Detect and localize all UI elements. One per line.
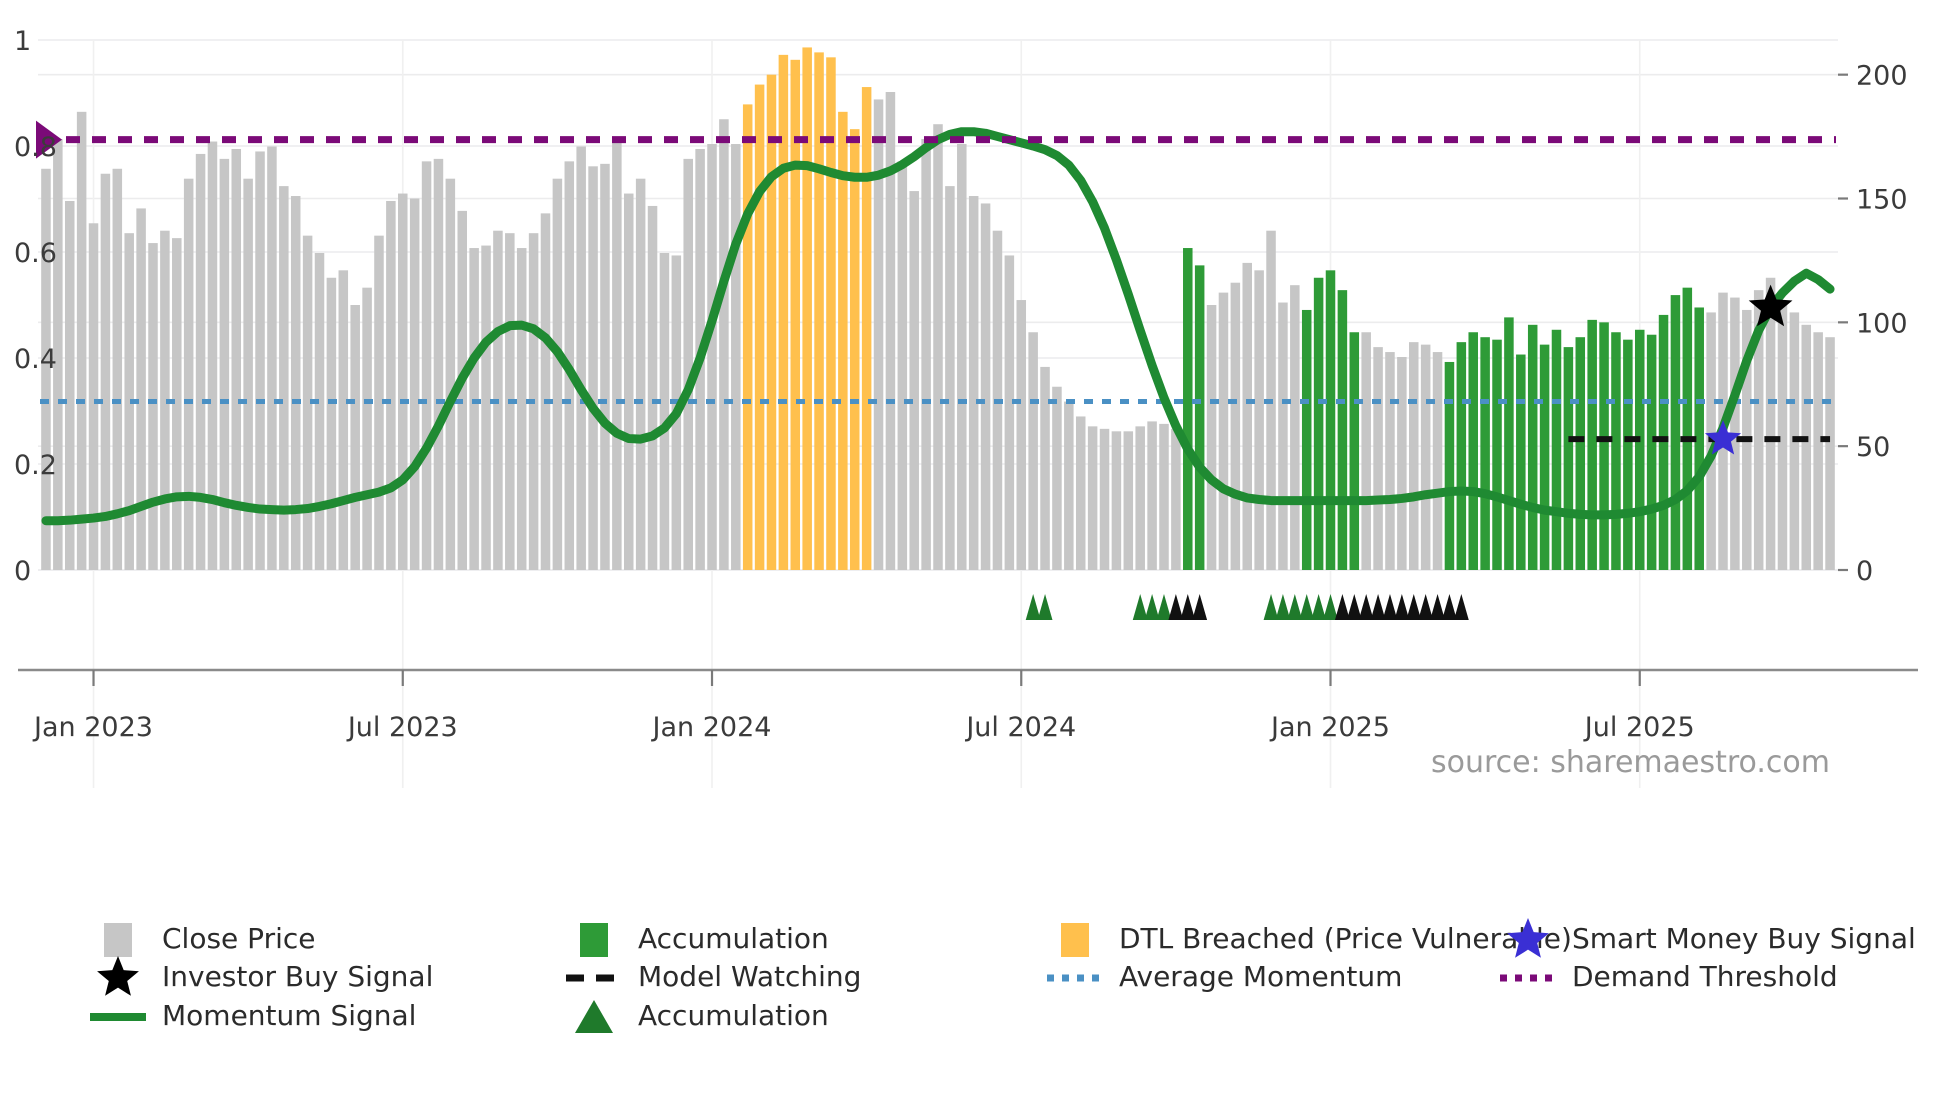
accumulation-triangle-green — [1275, 594, 1290, 620]
bar-accumulation — [1683, 288, 1693, 570]
bar-accumulation — [1302, 310, 1312, 570]
legend-item-label: Model Watching — [638, 960, 861, 993]
bar-close-price — [1278, 303, 1288, 570]
legend-close-price[interactable]: Close Price — [104, 922, 315, 957]
legend-demand-threshold[interactable]: Demand Threshold — [1500, 960, 1838, 993]
bar-close-price — [1135, 426, 1145, 570]
accumulation-triangle-black — [1371, 594, 1386, 620]
x-axis-tick-label: Jul 2023 — [346, 712, 458, 743]
bar-close-price — [969, 196, 979, 570]
legend-accumulation-bar[interactable]: Accumulation — [580, 922, 829, 957]
bar-close-price — [1147, 421, 1157, 570]
accumulation-triangle-black — [1454, 594, 1469, 620]
bar-close-price — [1207, 305, 1217, 570]
accumulation-triangle-green — [1299, 594, 1314, 620]
bar-close-price — [945, 186, 955, 570]
bar-dtl-breached — [862, 87, 872, 570]
left-axis-tick-label: 0.8 — [14, 132, 57, 163]
legend-investor-buy-signal[interactable]: Investor Buy Signal — [97, 956, 433, 996]
bar-accumulation — [1195, 265, 1205, 570]
accumulation-triangle-black — [1192, 594, 1207, 620]
left-axis-tick-label: 0.2 — [14, 450, 57, 481]
bar-close-price — [1385, 352, 1395, 570]
accumulation-triangle-green — [1323, 594, 1338, 620]
accumulation-triangle-green — [1264, 594, 1279, 620]
accumulation-triangle-green — [1133, 594, 1148, 620]
bar-close-price — [707, 144, 717, 570]
right-axis-tick-label: 100 — [1856, 308, 1908, 339]
bar-close-price — [172, 238, 182, 570]
bar-close-price — [1825, 337, 1835, 570]
bar-close-price — [933, 124, 943, 570]
bar-close-price — [541, 213, 551, 570]
bar-close-price — [624, 194, 634, 570]
bar-close-price — [136, 208, 146, 570]
bar-close-price — [1242, 263, 1252, 570]
bar-close-price — [660, 253, 670, 570]
bar-close-price — [1802, 325, 1812, 570]
bar-close-price — [517, 248, 527, 570]
bar-close-price — [481, 246, 491, 570]
legend-item-label: DTL Breached (Price Vulnerable) — [1119, 922, 1572, 955]
bar-close-price — [731, 144, 741, 570]
bar-accumulation — [1350, 332, 1360, 570]
accumulation-triangle-black — [1430, 594, 1445, 620]
bar-dtl-breached — [850, 129, 860, 570]
bar-close-price — [184, 179, 194, 570]
legend: Close PriceAccumulationDTL Breached (Pri… — [90, 918, 1916, 1033]
bar-close-price — [1219, 293, 1229, 570]
bar-close-price — [469, 248, 479, 570]
accumulation-triangle-black — [1359, 594, 1374, 620]
bar-accumulation — [1647, 335, 1657, 570]
legend-item-label: Demand Threshold — [1572, 960, 1838, 993]
bar-close-price — [1397, 357, 1407, 570]
bar-close-price — [410, 199, 420, 570]
left-axis-tick-label: 0.6 — [14, 238, 57, 269]
bar-dtl-breached — [755, 85, 765, 570]
x-axis-tick-labels: Jan 2023Jul 2023Jan 2024Jul 2024Jan 2025… — [32, 712, 1695, 743]
bar-close-price — [398, 194, 408, 570]
legend-item-label: Smart Money Buy Signal — [1572, 922, 1916, 955]
bar-accumulation — [1671, 295, 1681, 570]
right-axis-tick-label: 50 — [1856, 432, 1890, 463]
bar-close-price — [898, 161, 908, 570]
right-axis-tick-label: 0 — [1856, 556, 1873, 587]
bar-close-price — [1088, 426, 1098, 570]
bar-accumulation — [1599, 322, 1609, 570]
accumulation-triangle-black — [1394, 594, 1409, 620]
legend-square-swatch — [580, 923, 608, 957]
bar-dtl-breached — [743, 104, 753, 570]
source-watermark: source: sharemaestro.com — [1431, 745, 1830, 780]
legend-accumulation-triangle[interactable]: Accumulation — [575, 999, 829, 1033]
bar-close-price — [434, 159, 444, 570]
bar-close-price — [339, 270, 349, 570]
accumulation-triangle-black — [1347, 594, 1362, 620]
x-axis-tick-label: Jul 2025 — [1583, 712, 1695, 743]
legend-square-swatch — [1061, 923, 1089, 957]
legend-square-swatch — [104, 923, 132, 957]
bar-accumulation — [1516, 355, 1526, 570]
bar-close-price — [1421, 345, 1431, 570]
left-axis-tick-label: 1 — [14, 26, 31, 57]
accumulation-triangle-black — [1383, 594, 1398, 620]
bar-accumulation — [1564, 347, 1574, 570]
bar-accumulation — [1611, 332, 1621, 570]
bar-close-price — [362, 288, 372, 570]
accumulation-triangle-green — [1287, 594, 1302, 620]
bar-accumulation — [1314, 278, 1324, 570]
bar-close-price — [1361, 332, 1371, 570]
accumulation-triangle-green — [1157, 594, 1172, 620]
legend-item-label: Investor Buy Signal — [162, 960, 433, 993]
bar-close-price — [1231, 283, 1241, 570]
bar-close-price — [446, 179, 456, 570]
bar-close-price — [981, 203, 991, 570]
bar-close-price — [220, 159, 230, 570]
right-axis-tick-label: 200 — [1856, 61, 1908, 92]
bar-accumulation — [1480, 337, 1490, 570]
bar-close-price — [719, 119, 729, 570]
left-axis-tick-label: 0.4 — [14, 344, 57, 375]
accumulation-triangle-green — [1311, 594, 1326, 620]
accumulation-triangle-black — [1168, 594, 1183, 620]
bar-close-price — [1100, 429, 1110, 570]
bar-accumulation — [1457, 342, 1467, 570]
bar-accumulation — [1576, 337, 1586, 570]
legend-model-watching[interactable]: Model Watching — [566, 960, 861, 993]
close-price-bars — [41, 47, 1835, 570]
right-axis-tick-labels: 050100150200 — [1856, 61, 1908, 587]
bar-accumulation — [1528, 325, 1538, 570]
bar-close-price — [350, 305, 360, 570]
bar-close-price — [648, 206, 658, 570]
bar-close-price — [148, 243, 158, 570]
bar-dtl-breached — [802, 47, 812, 570]
bar-accumulation — [1552, 330, 1562, 570]
accumulation-triangle-black — [1418, 594, 1433, 620]
bar-close-price — [386, 201, 396, 570]
bar-accumulation — [1338, 290, 1348, 570]
bar-accumulation — [1445, 362, 1455, 570]
bar-close-price — [1112, 431, 1122, 570]
bar-close-price — [208, 142, 218, 570]
accumulation-triangle-black — [1180, 594, 1195, 620]
legend-item-label: Close Price — [162, 922, 315, 955]
bar-dtl-breached — [767, 75, 777, 570]
bar-accumulation — [1587, 320, 1597, 570]
bar-accumulation — [1326, 270, 1336, 570]
accumulation-triangle-green — [1026, 594, 1041, 620]
right-axis-tick-label: 150 — [1856, 185, 1908, 216]
bar-close-price — [65, 201, 75, 570]
chart-canvas: 00.20.40.60.81 050100150200 Jan 2023Jul … — [0, 0, 1960, 1102]
bar-close-price — [576, 146, 586, 570]
legend-item-label: Momentum Signal — [162, 999, 416, 1032]
bar-close-price — [1409, 342, 1419, 570]
accumulation-triangle-black — [1335, 594, 1350, 620]
legend-star-icon — [97, 956, 139, 996]
bar-close-price — [1005, 255, 1015, 570]
bar-accumulation — [1623, 340, 1633, 570]
bar-close-price — [1433, 352, 1443, 570]
bar-accumulation — [1468, 332, 1478, 570]
bar-accumulation — [1183, 248, 1193, 570]
bar-close-price — [1290, 285, 1300, 570]
bar-close-price — [1171, 429, 1181, 570]
x-axis-tick-label: Jan 2025 — [1269, 712, 1390, 743]
bar-close-price — [77, 112, 87, 570]
accumulation-triangle-black — [1442, 594, 1457, 620]
bar-close-price — [683, 159, 693, 570]
bar-close-price — [1254, 270, 1264, 570]
legend-average-momentum[interactable]: Average Momentum — [1047, 960, 1402, 993]
legend-momentum-signal[interactable]: Momentum Signal — [90, 999, 416, 1032]
bar-dtl-breached — [779, 55, 789, 570]
bar-close-price — [600, 164, 610, 570]
bar-close-price — [1124, 431, 1134, 570]
bar-close-price — [422, 161, 432, 570]
bar-close-price — [553, 179, 563, 570]
bar-close-price — [101, 174, 111, 570]
bar-dtl-breached — [814, 52, 824, 570]
bar-close-price — [1076, 416, 1086, 570]
x-axis-tick-label: Jul 2024 — [964, 712, 1076, 743]
accumulation-triangle-black — [1406, 594, 1421, 620]
bar-accumulation — [1659, 315, 1669, 570]
bar-close-price — [909, 191, 919, 570]
bar-close-price — [1064, 402, 1074, 570]
bar-dtl-breached — [826, 57, 836, 570]
bar-close-price — [315, 253, 325, 570]
momentum-accumulation-chart: 00.20.40.60.81 050100150200 Jan 2023Jul … — [0, 0, 1960, 1102]
bar-accumulation — [1504, 317, 1514, 570]
bar-close-price — [1040, 367, 1050, 570]
bar-close-price — [1028, 332, 1038, 570]
bar-close-price — [327, 278, 337, 570]
bar-close-price — [1813, 332, 1823, 570]
bar-close-price — [921, 139, 931, 570]
bar-close-price — [1017, 300, 1027, 570]
bar-close-price — [957, 144, 967, 570]
legend-dtl-breached[interactable]: DTL Breached (Price Vulnerable) — [1061, 922, 1572, 957]
bar-close-price — [636, 179, 646, 570]
accumulation-triangle-green — [1145, 594, 1160, 620]
legend-triangle-icon — [575, 1000, 613, 1033]
bar-close-price — [1159, 424, 1169, 570]
bar-close-price — [886, 92, 896, 570]
bar-close-price — [196, 154, 206, 570]
bar-close-price — [1052, 387, 1062, 570]
legend-item-label: Accumulation — [638, 922, 829, 955]
bar-accumulation — [1635, 330, 1645, 570]
bar-close-price — [1373, 347, 1383, 570]
x-axis-tick-label: Jan 2023 — [32, 712, 153, 743]
x-axis-tick-label: Jan 2024 — [651, 712, 772, 743]
left-axis-tick-label: 0 — [14, 556, 31, 587]
bar-accumulation — [1540, 345, 1550, 570]
bar-accumulation — [1492, 340, 1502, 570]
legend-item-label: Accumulation — [638, 999, 829, 1032]
accumulation-triangle-green — [1038, 594, 1053, 620]
bar-close-price — [588, 166, 598, 570]
accumulation-triangle-markers — [1026, 594, 1469, 620]
legend-item-label: Average Momentum — [1119, 960, 1402, 993]
bar-close-price — [612, 142, 622, 570]
